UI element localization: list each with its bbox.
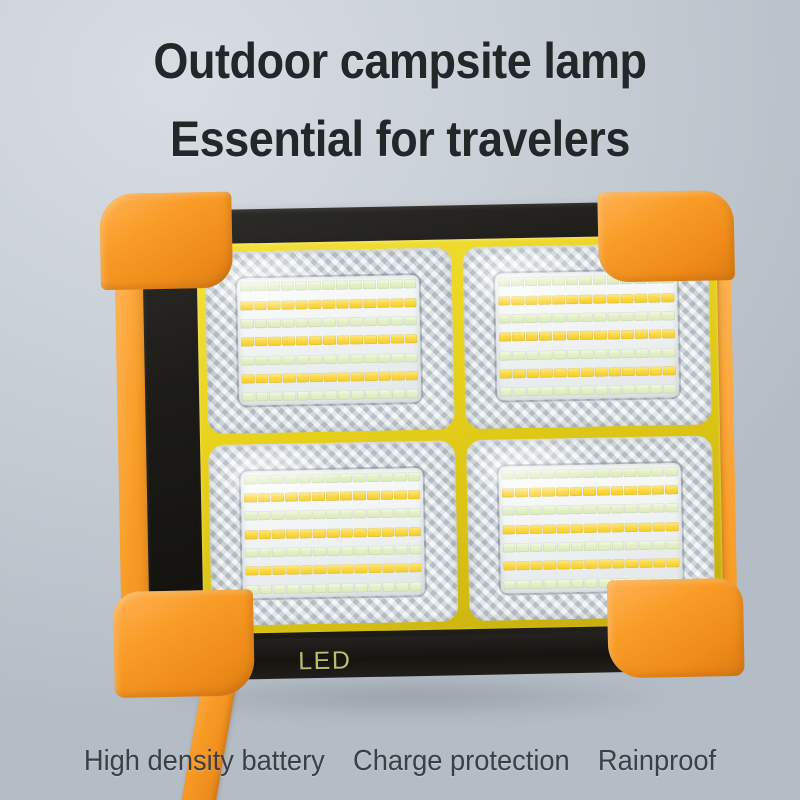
led-emitter-warm <box>625 523 638 532</box>
led-emitter-cool <box>298 474 311 483</box>
led-emitter-cool <box>544 579 557 588</box>
led-emitter-warm <box>395 527 408 536</box>
led-emitter-cool <box>308 281 321 290</box>
led-emitter-cool <box>326 473 339 482</box>
led-emitter-cool <box>594 349 607 358</box>
led-emitter-cool <box>295 318 308 327</box>
led-emitter-warm <box>567 368 580 377</box>
led-emitter-cool <box>622 385 635 394</box>
led-emitter-warm <box>512 332 525 341</box>
led-emitter-warm <box>499 369 512 378</box>
led-emitter-warm <box>364 335 377 344</box>
led-emitter-cool <box>324 391 337 400</box>
led-emitter-cool <box>380 472 393 481</box>
led-emitter-warm <box>502 525 515 534</box>
led-emitter-warm <box>634 293 647 302</box>
led-emitter-cool <box>392 353 405 362</box>
led-emitter-warm <box>245 567 258 576</box>
led-emitter-cool <box>241 356 254 365</box>
led-emitter-cool <box>408 508 421 517</box>
led-emitter-cool <box>268 319 281 328</box>
led-emitter-cool <box>405 353 418 362</box>
led-emitter-cool <box>503 543 516 552</box>
headline-line-2: Essential for travelers <box>40 110 760 168</box>
led-emitter-warm <box>529 524 542 533</box>
led-emitter-warm <box>409 563 422 572</box>
led-emitter-warm <box>326 492 339 501</box>
led-emitter-warm <box>300 566 313 575</box>
led-emitter-warm <box>273 566 286 575</box>
led-emitter-cool <box>497 277 510 286</box>
led-emitter-cool <box>568 386 581 395</box>
led-emitter-warm <box>542 488 555 497</box>
led-emitter-cool <box>543 506 556 515</box>
led-emitter-warm <box>353 491 366 500</box>
led-emitter-cool <box>326 510 339 519</box>
led-emitter-cool <box>652 504 665 513</box>
led-emitter-warm <box>570 487 583 496</box>
led-emitter-warm <box>552 295 565 304</box>
led-emitter-cool <box>499 351 512 360</box>
led-emitter-warm <box>340 491 353 500</box>
led-emitter-warm <box>381 491 394 500</box>
led-emitter-cool <box>256 392 269 401</box>
led-emitter-cool <box>328 583 341 592</box>
led-emitter-cool <box>376 280 389 289</box>
led-emitter-warm <box>241 337 254 346</box>
led-emitter-warm <box>639 522 652 531</box>
led-emitter-warm <box>594 331 607 340</box>
led-emitter-cool <box>258 511 271 520</box>
led-emitter-warm <box>394 490 407 499</box>
led-emitter-warm <box>638 486 651 495</box>
led-emitter-warm <box>377 298 390 307</box>
led-emitter-cool <box>597 505 610 514</box>
led-emitter-warm <box>566 295 579 304</box>
led-emitter-warm <box>281 300 294 309</box>
led-emitter-warm <box>271 493 284 502</box>
led-emitter-cool <box>351 354 364 363</box>
corner-bumper-top-right <box>597 190 735 283</box>
led-emitter-cool <box>581 349 594 358</box>
led-emitter-cool <box>526 350 539 359</box>
led-emitter-cool <box>367 509 380 518</box>
led-emitter-warm <box>517 561 530 570</box>
led-emitter-cool <box>638 467 651 476</box>
led-emitter-cool <box>310 354 323 363</box>
corner-bumper-top-left <box>99 192 233 291</box>
led-emitter-warm <box>396 564 409 573</box>
led-emitter-cool <box>581 386 594 395</box>
led-emitter-warm <box>296 336 309 345</box>
led-emitter-warm <box>649 330 662 339</box>
led-emitter-warm <box>382 564 395 573</box>
led-emitter-cool <box>503 580 516 589</box>
led-emitter-cool <box>666 540 679 549</box>
led-emitter-cool <box>663 384 676 393</box>
led-emitter-cool <box>594 312 607 321</box>
led-emitter-cool <box>349 280 362 289</box>
led-emitter-cool <box>282 318 295 327</box>
led-emitter-cool <box>608 349 621 358</box>
led-emitter-warm <box>571 560 584 569</box>
led-emitter-cool <box>570 505 583 514</box>
led-emitter-warm <box>310 373 323 382</box>
led-emitter-warm <box>245 530 258 539</box>
led-emitter-cool <box>516 543 529 552</box>
led-emitter-warm <box>585 560 598 569</box>
led-emitter-warm <box>649 366 662 375</box>
led-emitter-warm <box>595 367 608 376</box>
led-emitter-cool <box>557 542 570 551</box>
led-emitter-warm <box>390 298 403 307</box>
led-emitter-cool <box>283 392 296 401</box>
led-emitter-cool <box>556 506 569 515</box>
led-emitter-cool <box>310 391 323 400</box>
led-emitter-cool <box>368 546 381 555</box>
led-emitter-warm <box>381 527 394 536</box>
led-emitter-warm <box>309 336 322 345</box>
led-emitter-cool <box>379 390 392 399</box>
led-emitter-cool <box>567 350 580 359</box>
led-emitter-warm <box>337 372 350 381</box>
led-emitter-warm <box>312 492 325 501</box>
led-emitter-warm <box>584 523 597 532</box>
led-emitter-warm <box>557 561 570 570</box>
led-emitter-warm <box>368 564 381 573</box>
led-emitter-warm <box>527 369 540 378</box>
led-emitter-cool <box>382 546 395 555</box>
led-emitter-cool <box>297 391 310 400</box>
led-emitter-cool <box>624 468 637 477</box>
led-emitter-cool <box>595 386 608 395</box>
led-emitter-cool <box>511 277 524 286</box>
led-emitter-cool <box>295 281 308 290</box>
led-emitter-warm <box>363 298 376 307</box>
led-emitter-cool <box>314 584 327 593</box>
led-emitter-warm <box>269 374 282 383</box>
led-emitter-cool <box>528 469 541 478</box>
led-emitter-cool <box>287 584 300 593</box>
led-emitter-warm <box>556 487 569 496</box>
led-emitter-cool <box>244 512 257 521</box>
led-emitter-cool <box>635 312 648 321</box>
led-emitter-warm <box>543 524 556 533</box>
led-emitter-cool <box>585 578 598 587</box>
led-emitter-cool <box>650 385 663 394</box>
led-emitter-cool <box>391 316 404 325</box>
led-emitter-cool <box>355 583 368 592</box>
led-emitter-cool <box>281 282 294 291</box>
led-label: LED <box>298 646 352 676</box>
led-emitter-cool <box>580 313 593 322</box>
led-emitter-warm <box>593 294 606 303</box>
led-emitter-cool <box>404 279 417 288</box>
led-emitter-warm <box>539 332 552 341</box>
led-emitter-warm <box>242 374 255 383</box>
led-emitter-cool <box>597 468 610 477</box>
led-emitter-cool <box>540 350 553 359</box>
led-emitter-cool <box>369 583 382 592</box>
led-emitter-warm <box>283 373 296 382</box>
led-emitter-cool <box>622 349 635 358</box>
led-emitter-warm <box>611 523 624 532</box>
inner-bezel <box>196 234 723 634</box>
led-emitter-cool <box>338 391 351 400</box>
led-emitter-cool <box>245 548 258 557</box>
led-emitter-cool <box>269 355 282 364</box>
led-emitter-cool <box>501 470 514 479</box>
led-emitter-cool <box>257 475 270 484</box>
led-emitter-cool <box>571 542 584 551</box>
led-emitter-warm <box>515 488 528 497</box>
led-emitter-warm <box>516 525 529 534</box>
led-emitter-cool <box>285 511 298 520</box>
led-emitter-cool <box>539 313 552 322</box>
led-emitter-warm <box>378 335 391 344</box>
led-emitter-cool <box>540 387 553 396</box>
led-emitter-cool <box>272 511 285 520</box>
led-emitter-warm <box>367 491 380 500</box>
led-emitter-cool <box>286 547 299 556</box>
led-emitter-cool <box>254 319 267 328</box>
led-emitter-cool <box>542 469 555 478</box>
led-emitter-warm <box>259 566 272 575</box>
led-emitter-cool <box>530 543 543 552</box>
led-emitter-cool <box>612 541 625 550</box>
led-emitter-cool <box>610 468 623 477</box>
led-emitter-cool <box>407 472 420 481</box>
led-emitter-warm <box>365 372 378 381</box>
led-emitter-cool <box>337 354 350 363</box>
led-emitter-cool <box>322 281 335 290</box>
led-emitter-cool <box>635 348 648 357</box>
led-emitter-warm <box>327 565 340 574</box>
led-emitter-cool <box>665 467 678 476</box>
led-emitter-warm <box>268 300 281 309</box>
led-emitter-cool <box>336 317 349 326</box>
led-emitter-cool <box>313 547 326 556</box>
led-emitter-warm <box>666 522 679 531</box>
led-emitter-warm <box>313 529 326 538</box>
led-emitter-warm <box>337 336 350 345</box>
led-emitter-cool <box>340 510 353 519</box>
led-emitter-cool <box>300 547 313 556</box>
led-emitter-cool <box>566 276 579 285</box>
led-emitter-cool <box>323 354 336 363</box>
led-emitter-cool <box>593 276 606 285</box>
led-emitter-cool <box>394 509 407 518</box>
led-emitter-cool <box>517 580 530 589</box>
led-emitter-cool <box>242 392 255 401</box>
led-emitter-warm <box>340 528 353 537</box>
feature-item-2: Rainproof <box>598 744 716 778</box>
led-emitter-cool <box>259 548 272 557</box>
led-emitter-warm <box>612 560 625 569</box>
led-emitter-cool <box>663 348 676 357</box>
led-emitter-cool <box>244 475 257 484</box>
led-emitter-warm <box>341 565 354 574</box>
led-emitter-cool <box>240 282 253 291</box>
led-emitter-warm <box>391 335 404 344</box>
led-emitter-warm <box>667 559 680 568</box>
led-emitter-cool <box>553 350 566 359</box>
led-emitter-warm <box>244 493 257 502</box>
led-emitter-warm <box>525 295 538 304</box>
led-emitter-cool <box>653 540 666 549</box>
led-emitter-cool <box>354 509 367 518</box>
feature-item-1: Charge protection <box>353 744 570 778</box>
led-emitter-cool <box>525 314 538 323</box>
led-emitter-cool <box>300 584 313 593</box>
led-emitter-cool <box>390 280 403 289</box>
led-emitter-cool <box>377 317 390 326</box>
led-emitter-cool <box>662 311 675 320</box>
led-emitter-cool <box>598 541 611 550</box>
led-emitter-warm <box>554 368 567 377</box>
led-emitter-warm <box>282 337 295 346</box>
led-emitter-cool <box>409 545 422 554</box>
led-emitter-cool <box>312 474 325 483</box>
led-emitter-cool <box>648 311 661 320</box>
led-emitter-cool <box>583 468 596 477</box>
led-emitter-cool <box>365 390 378 399</box>
led-emitter-warm <box>665 485 678 494</box>
led-emitter-warm <box>314 565 327 574</box>
led-emitter-warm <box>611 486 624 495</box>
led-board-top-right <box>494 270 679 401</box>
led-emitter-cool <box>363 280 376 289</box>
led-emitter-warm <box>526 332 539 341</box>
led-emitter-warm <box>498 296 511 305</box>
led-emitter-cool <box>579 276 592 285</box>
led-emitter-warm <box>408 490 421 499</box>
led-emitter-cool <box>638 504 651 513</box>
led-emitter-cool <box>513 387 526 396</box>
product-ad-canvas: Outdoor campsite lamp Essential for trav… <box>0 0 800 800</box>
led-emitter-warm <box>405 334 418 343</box>
led-emitter-warm <box>662 329 675 338</box>
led-emitter-warm <box>354 528 367 537</box>
led-emitter-warm <box>268 337 281 346</box>
led-emitter-warm <box>255 337 268 346</box>
led-emitter-cool <box>254 282 267 291</box>
led-emitter-cool <box>327 547 340 556</box>
led-emitter-cool <box>515 470 528 479</box>
led-emitter-cool <box>313 510 326 519</box>
led-emitter-warm <box>336 299 349 308</box>
led-emitter-warm <box>598 523 611 532</box>
led-emitter-cool <box>666 503 679 512</box>
led-emitter-cool <box>271 474 284 483</box>
lens-panel-top-left <box>204 247 454 433</box>
led-emitter-cool <box>255 356 268 365</box>
led-emitter-cool <box>296 355 309 364</box>
led-emitter-warm <box>652 485 665 494</box>
led-emitter-cool <box>611 505 624 514</box>
led-emitter-warm <box>598 560 611 569</box>
led-emitter-warm <box>323 336 336 345</box>
led-emitter-cool <box>649 348 662 357</box>
led-emitter-cool <box>543 543 556 552</box>
led-emitter-cool <box>625 504 638 513</box>
led-emitter-cool <box>584 542 597 551</box>
led-emitter-warm <box>608 367 621 376</box>
led-emitter-cool <box>282 355 295 364</box>
led-emitter-cool <box>571 579 584 588</box>
led-emitter-cool <box>392 390 405 399</box>
led-emitter-cool <box>607 312 620 321</box>
led-emitter-warm <box>597 486 610 495</box>
led-emitter-warm <box>570 524 583 533</box>
led-emitter-cool <box>527 387 540 396</box>
led-emitter-cool <box>498 314 511 323</box>
led-emitter-warm <box>580 294 593 303</box>
led-emitter-warm <box>299 529 312 538</box>
led-emitter-warm <box>567 331 580 340</box>
led-emitter-warm <box>622 367 635 376</box>
feature-item-0: High density battery <box>84 744 325 778</box>
led-board-bottom-left <box>241 468 426 599</box>
led-emitter-cool <box>309 318 322 327</box>
led-emitter-warm <box>406 371 419 380</box>
led-emitter-cool <box>404 316 417 325</box>
led-emitter-cool <box>394 472 407 481</box>
led-emitter-warm <box>639 559 652 568</box>
led-emitter-cool <box>569 469 582 478</box>
led-emitter-cool <box>556 469 569 478</box>
led-emitter-cool <box>364 353 377 362</box>
led-emitter-cool <box>364 317 377 326</box>
led-emitter-cool <box>350 317 363 326</box>
led-emitter-warm <box>511 296 524 305</box>
led-emitter-cool <box>366 473 379 482</box>
led-emitter-cool <box>381 509 394 518</box>
led-emitter-cool <box>512 351 525 360</box>
corner-bumper-bottom-left <box>113 589 255 698</box>
led-emitter-cool <box>525 277 538 286</box>
led-emitter-warm <box>624 486 637 495</box>
led-emitter-warm <box>662 293 675 302</box>
led-emitter-cool <box>272 548 285 557</box>
led-emitter-warm <box>544 561 557 570</box>
led-emitter-cool <box>531 579 544 588</box>
led-emitter-warm <box>355 565 368 574</box>
led-emitter-cool <box>351 390 364 399</box>
led-emitter-cool <box>625 541 638 550</box>
led-emitter-warm <box>351 372 364 381</box>
led-emitter-warm <box>513 369 526 378</box>
led-emitter-warm <box>653 559 666 568</box>
led-emitter-cool <box>241 319 254 328</box>
feature-strip: High density batteryCharge protectionRai… <box>24 744 776 778</box>
led-emitter-cool <box>609 385 622 394</box>
led-emitter-warm <box>350 299 363 308</box>
led-emitter-cool <box>395 545 408 554</box>
corner-bumper-bottom-right <box>607 578 745 679</box>
led-emitter-cool <box>273 584 286 593</box>
led-emitter-warm <box>404 298 417 307</box>
led-emitter-cool <box>323 318 336 327</box>
product-image-led-floodlight: LED IP66 <box>99 180 745 698</box>
led-emitter-cool <box>267 282 280 291</box>
led-emitter-warm <box>636 367 649 376</box>
led-emitter-warm <box>663 366 676 375</box>
led-emitter-warm <box>324 373 337 382</box>
led-emitter-warm <box>539 295 552 304</box>
led-emitter-warm <box>299 492 312 501</box>
led-emitter-cool <box>354 546 367 555</box>
